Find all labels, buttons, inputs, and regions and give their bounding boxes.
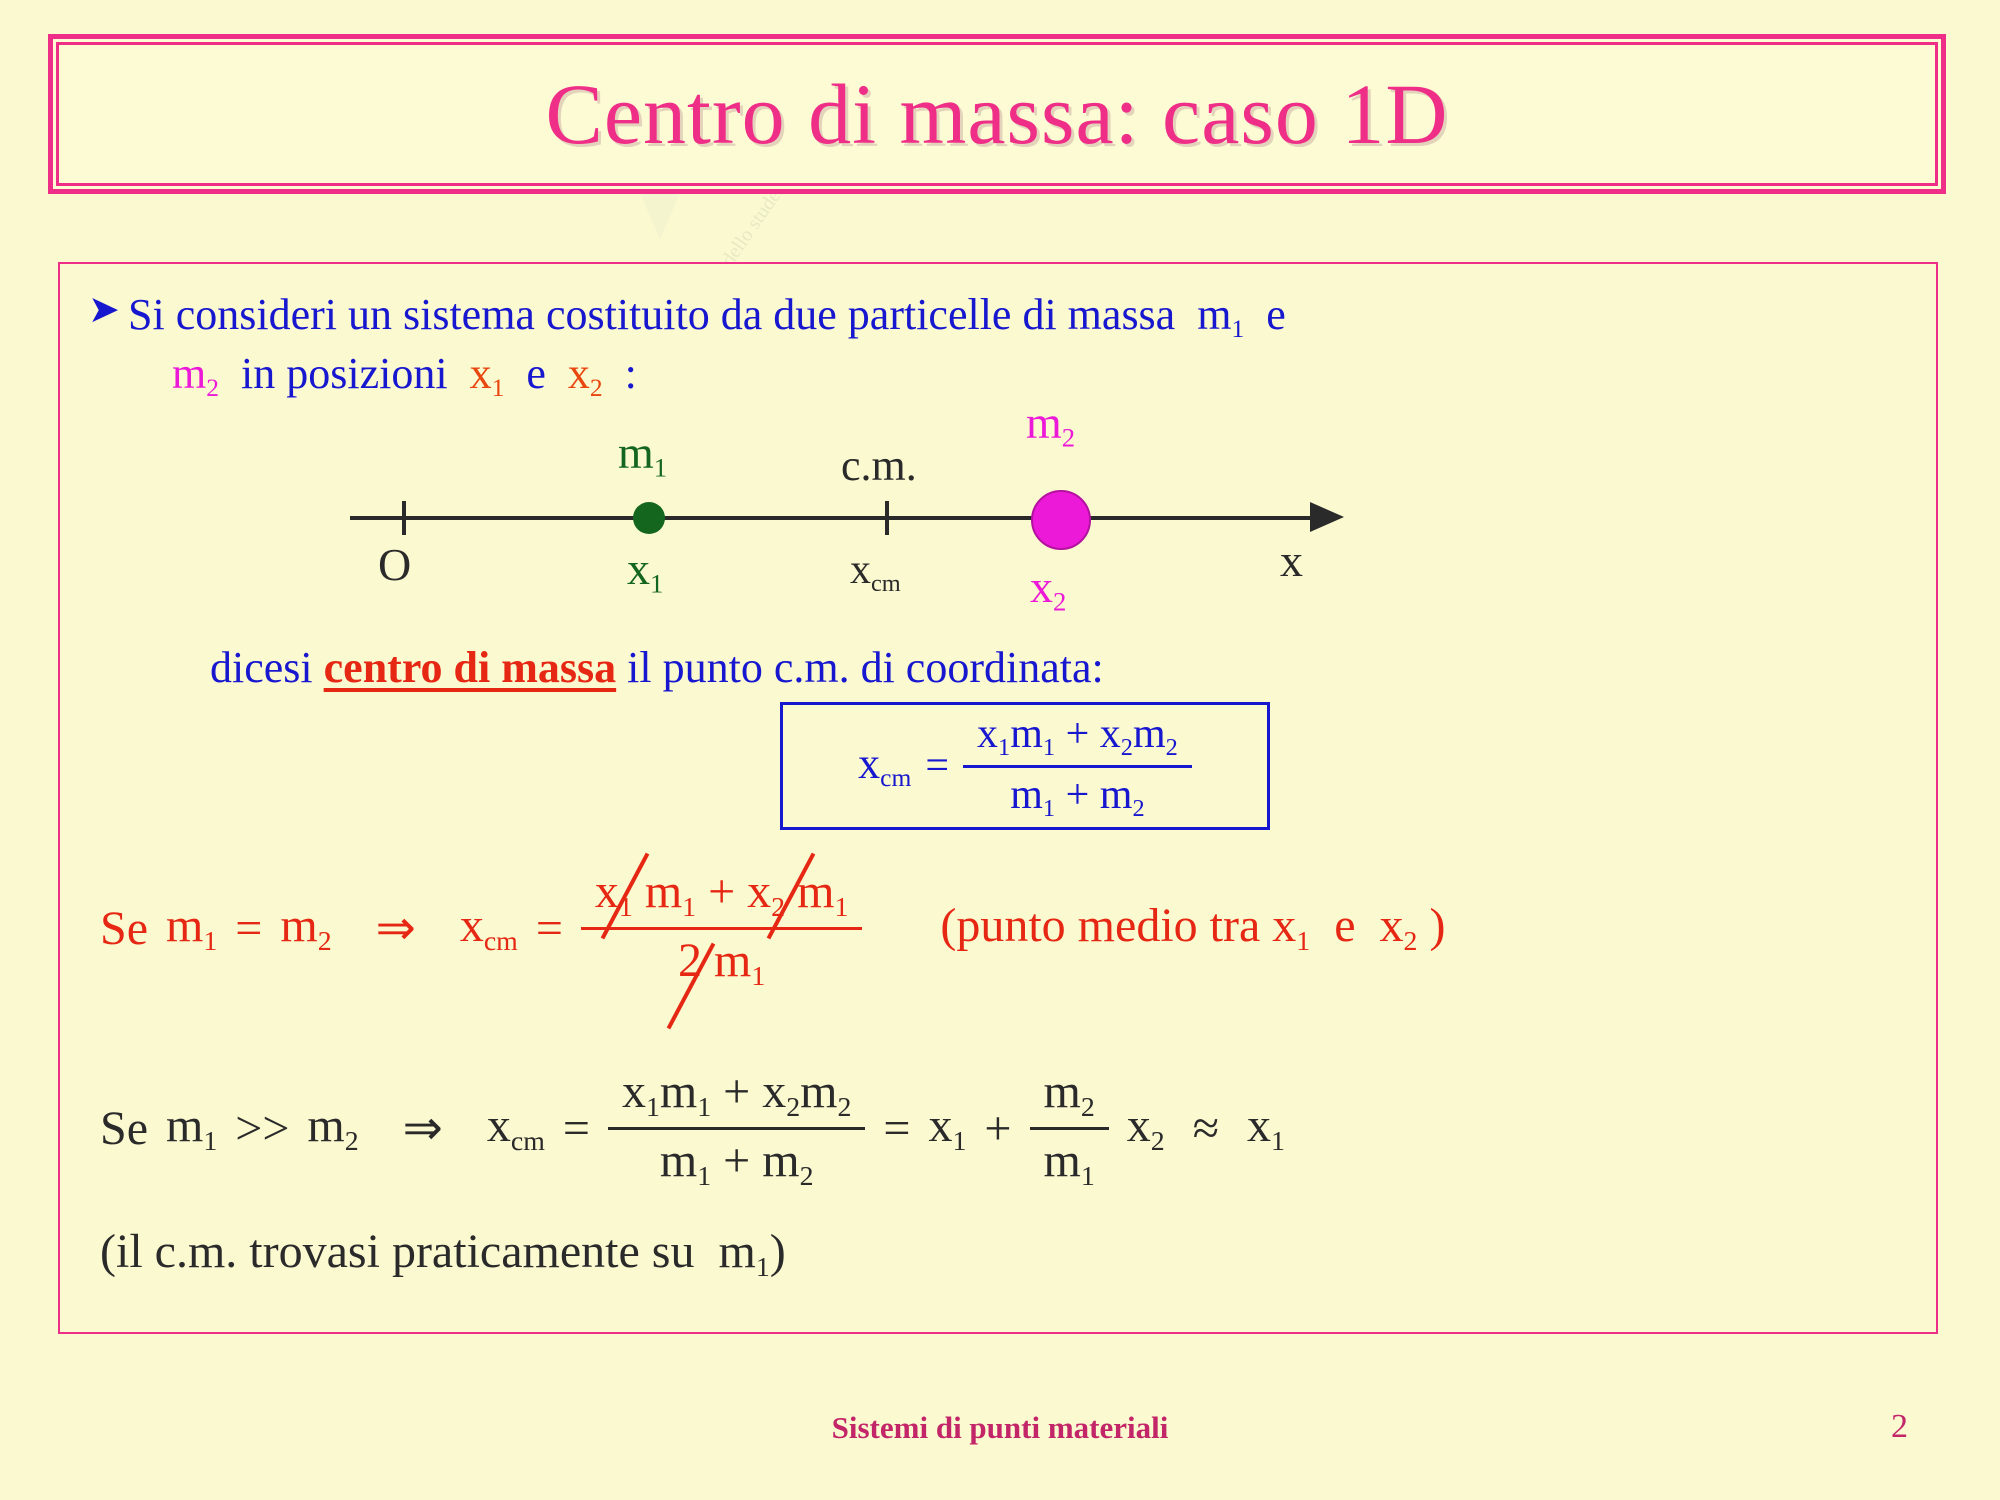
cm-tick [885,501,889,535]
case-equal-m2: m2 [280,898,331,958]
mass-symbol-m1: m1 [1197,290,1244,339]
diagram-label-x2: x2 [1030,560,1066,618]
closing-note-text: (il c.m. trovasi praticamente su [100,1225,694,1278]
case-equal-se: Se [100,901,148,956]
slide-canvas: il paradiso dello studente Centro di mas… [0,0,2000,1500]
formula-equals: = [925,742,949,790]
diagram-label-x1: x1 [627,542,663,600]
definition-emphasis: centro di massa [324,643,617,692]
mass-symbol-m2: m2 [172,349,219,398]
bullet-paragraph-text: Si consideri un sistema costituito da du… [128,286,1888,405]
footer-label: Sistemi di punti materiali [0,1410,2000,1446]
case-gg-plus: + [984,1101,1011,1156]
formula-lhs: xcm [858,738,911,793]
particle-m2-dot [1031,490,1091,550]
position-symbol-x1: x1 [470,349,505,398]
case-equal-fraction-wrap: x1 m1 + x2 m1 2 m1 [581,864,862,993]
closing-note-close: ) [770,1225,786,1278]
case-gg-x2: x2 [1127,1098,1165,1158]
formula-denominator: m1 + m2 [963,765,1192,823]
conjunction-e-1: e [1266,290,1286,339]
paragraph-line2: m2 in posizioni x1 e x2 : [128,345,1888,404]
case-gg-equals2: = [883,1101,910,1156]
closing-note: (il c.m. trovasi praticamente su m1) [100,1224,786,1284]
diagram-label-m2: m2 [1026,396,1075,454]
case-equal-xcm: xcm [460,898,518,958]
diagram-label-m1: m1 [618,426,667,484]
case-equal-equals: = [536,901,563,956]
case-gg-operator: >> [235,1101,289,1156]
definition-post: il punto c.m. di coordinata: [627,643,1104,692]
case-equal-comment: (punto medio tra x1 e x2 ) [880,898,1445,958]
case-gg-ratio-denominator: m1 [1030,1127,1109,1193]
main-formula: xcm = x1m1 + x2m2 m1 + m2 [858,710,1192,823]
case-much-greater: Se m1 >> m2 ⇒ xcm = x1m1 + x2m2 m1 + m2 … [100,1064,1930,1193]
case-equal-denominator: 2 m1 [581,927,862,993]
case-equal-m1: m1 [166,898,217,958]
diagram-label-cm: c.m. [841,440,917,491]
case-equal-fraction: x1 m1 + x2 m1 2 m1 [581,864,862,993]
case-gg-m1: m1 [166,1098,217,1158]
paragraph-line2-text: in posizioni [241,349,448,398]
case-gg-se: Se [100,1101,148,1156]
case-gg-numerator: x1m1 + x2m2 [608,1064,865,1127]
diagram-label-origin: O [378,538,411,591]
case-gg-ratio-numerator: m2 [1030,1064,1109,1127]
paragraph-line1: Si consideri un sistema costituito da du… [128,290,1175,339]
case-gg-approx: ≈ [1183,1101,1229,1156]
conjunction-e-2: e [526,349,546,398]
case-gg-fraction: x1m1 + x2m2 m1 + m2 [608,1064,865,1193]
page-number: 2 [1891,1408,1908,1446]
title-frame: Centro di massa: caso 1D [48,34,1946,194]
diagram-label-axis: x [1280,534,1303,587]
axis-arrow-icon [1310,502,1344,532]
case-equal-masses: Se m1 = m2 ⇒ xcm = x1 m1 + x2 m1 2 m1 (p… [100,864,1920,993]
content-frame: ➤Si consideri un sistema costituito da d… [58,262,1938,1334]
position-symbol-x2: x2 [568,349,603,398]
case-gg-x1: x1 [929,1098,967,1158]
page-title: Centro di massa: caso 1D [546,64,1449,164]
number-line-diagram: m1 m2 c.m. O x1 xcm x2 x [350,414,1360,604]
particle-m1-dot [633,502,665,534]
formula-numerator: x1m1 + x2m2 [963,710,1192,765]
definition-sentence: dicesi centro di massa il punto c.m. di … [210,642,1104,693]
case-gg-m2: m2 [307,1098,358,1158]
case-gg-implies: ⇒ [377,1100,469,1156]
colon-punct: : [625,349,637,398]
case-gg-denominator: m1 + m2 [608,1127,865,1193]
closing-note-m1: m1 [718,1225,769,1278]
diagram-label-xcm: xcm [850,546,901,598]
origin-tick [402,501,406,535]
axis-line [350,516,1316,520]
definition-pre: dicesi [210,643,313,692]
arrow-bullet-icon: ➤ [88,286,128,335]
bullet-paragraph: ➤Si consideri un sistema costituito da d… [88,286,1918,405]
case-gg-result: x1 [1247,1098,1285,1158]
formula-fraction: x1m1 + x2m2 m1 + m2 [963,710,1192,823]
case-equal-implies: ⇒ [350,900,442,956]
case-gg-mass-ratio: m2 m1 [1030,1064,1109,1193]
case-gg-xcm: xcm [487,1098,545,1158]
case-gg-equals: = [563,1101,590,1156]
title-inner-frame: Centro di massa: caso 1D [56,42,1938,186]
main-formula-box: xcm = x1m1 + x2m2 m1 + m2 [780,702,1270,830]
case-equal-eq: = [235,901,262,956]
